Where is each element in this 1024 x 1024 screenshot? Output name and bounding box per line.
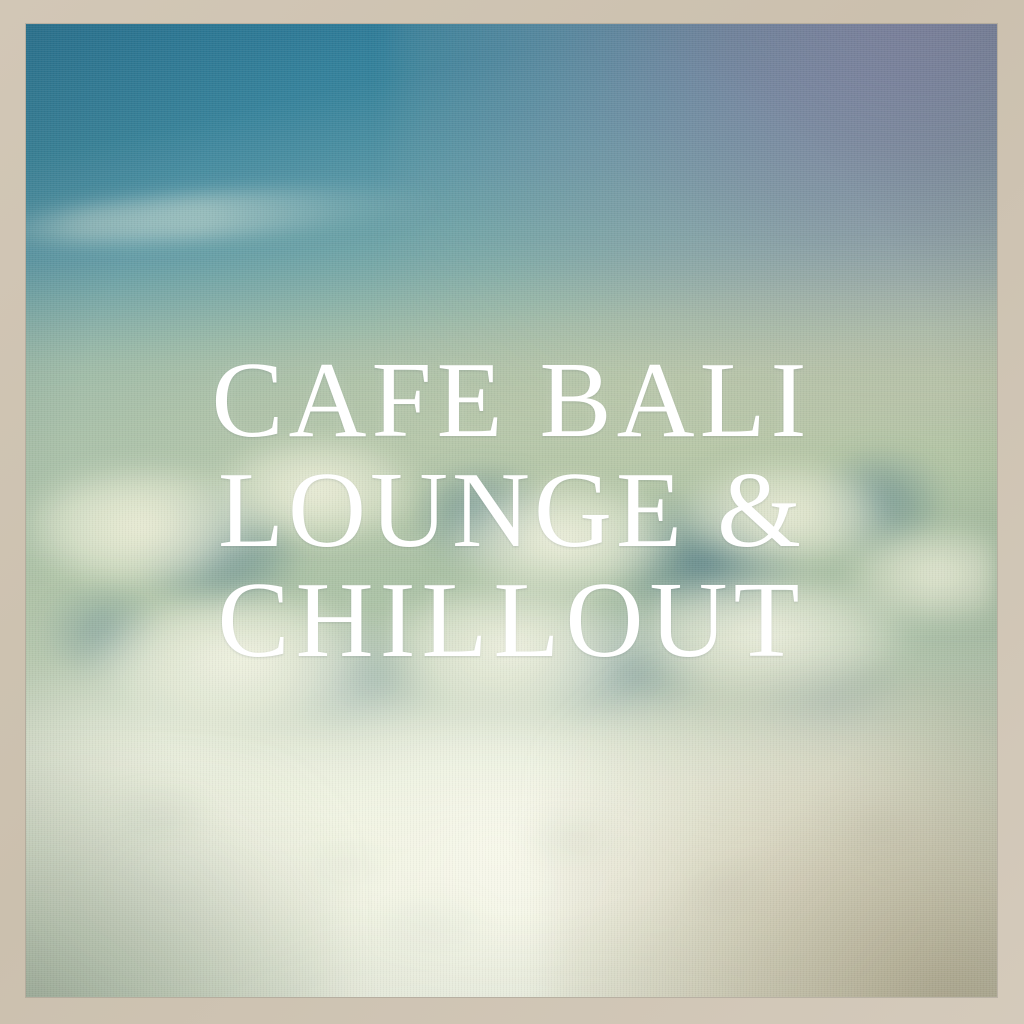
cloud-field: [26, 394, 997, 997]
album-cover: CAFE BALI LOUNGE & CHILLOUT: [0, 0, 1024, 1024]
cloud-texture: [26, 394, 997, 997]
cover-photo: CAFE BALI LOUNGE & CHILLOUT: [26, 24, 997, 997]
